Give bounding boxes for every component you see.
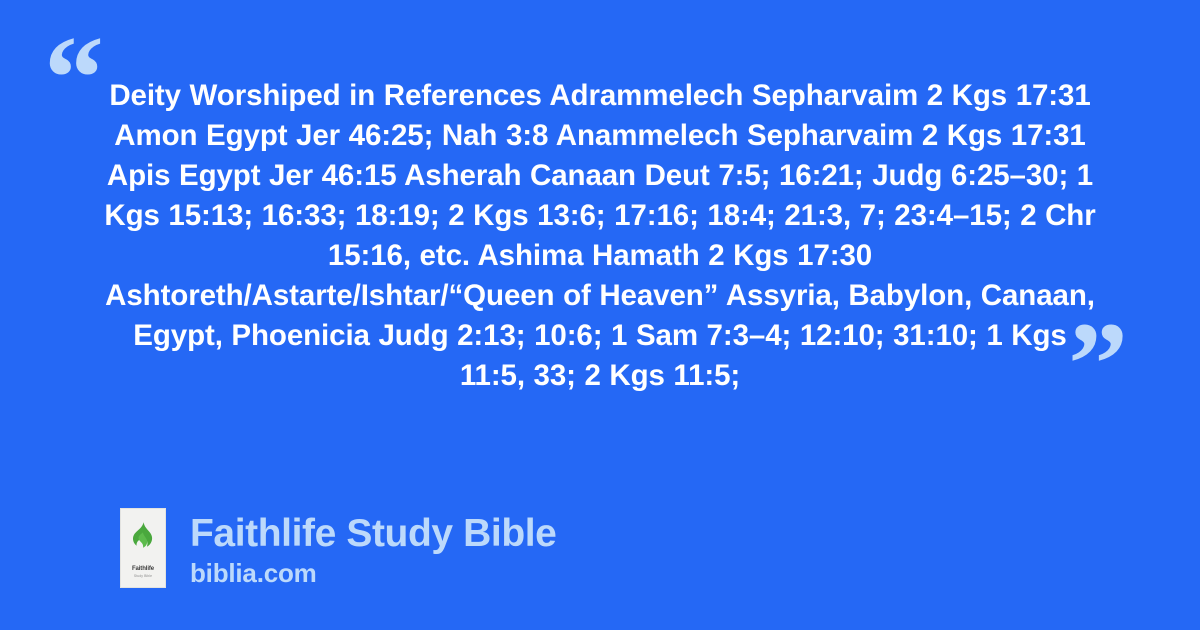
quote-card: “ Deity Worshiped in References Adrammel… bbox=[0, 0, 1200, 630]
open-quote-icon: “ bbox=[44, 18, 104, 138]
quote-text: Deity Worshiped in References Adrammelec… bbox=[100, 76, 1100, 396]
brand-title: Faithlife Study Bible bbox=[190, 511, 556, 556]
quote-body: Deity Worshiped in References Adrammelec… bbox=[100, 76, 1100, 396]
green-flame-icon bbox=[132, 522, 154, 550]
book-cover-title: Faithlife bbox=[132, 566, 154, 573]
brand-url[interactable]: biblia.com bbox=[190, 558, 556, 588]
book-cover-subtitle: Study Bible bbox=[134, 574, 152, 578]
footer-branding: Faithlife Study Bible Faithlife Study Bi… bbox=[120, 508, 556, 588]
close-quote-icon: ” bbox=[1068, 304, 1128, 424]
brand-text-block: Faithlife Study Bible biblia.com bbox=[190, 508, 556, 588]
book-cover-thumbnail: Faithlife Study Bible bbox=[120, 508, 166, 588]
